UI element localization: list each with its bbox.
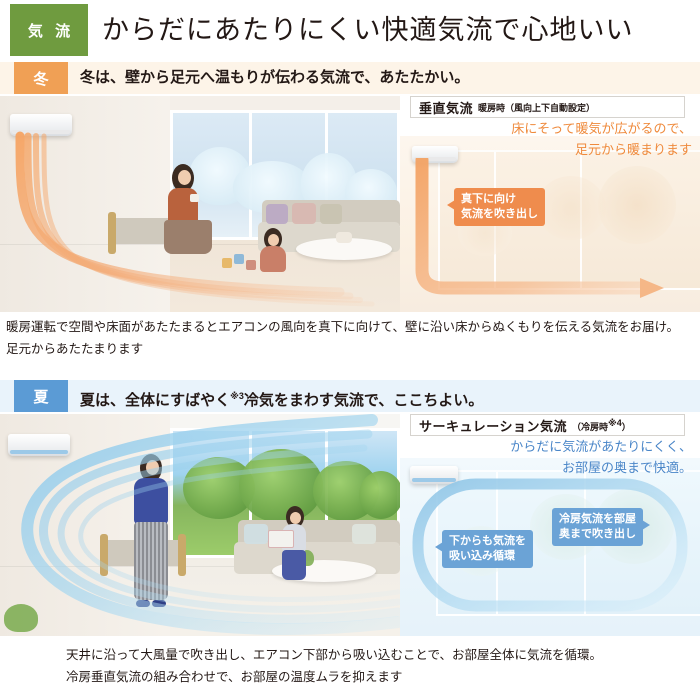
winter-caption: 暖房運転で空間や床面があたたまるとエアコンの風向を真下に向けて、壁に沿い床からぬ… [6,316,696,360]
callout-downward-airflow-line1: 真下に向け [461,192,538,207]
winter-ac-indoor-unit [10,114,72,136]
page-title: からだにあたりにくい快適気流で心地いい [102,6,633,54]
section-badge-airflow: 気 流 [10,4,88,56]
winter-diagram: 真下に向け 気流を吹き出し [400,136,700,312]
winter-diagram-panel: 垂直気流 暖房時（風向上下自動設定） 床にそって暖気が広がるので、 足元から暖ま… [400,96,700,312]
vertical-airflow-label: 垂直気流 暖房時（風向上下自動設定） [410,96,685,118]
summer-ac-indoor-unit [8,434,70,456]
winter-diagram-ac-unit [412,146,458,163]
summer-headline: 夏は、全体にすばやく※3冷気をまわす気流で、ここちよい。 [80,380,483,412]
circulation-airflow-label: サーキュレーション気流 （冷房時※4） [410,414,685,436]
callout-intake-from-below-line1: 下からも気流を [449,534,526,549]
summer-diagram: 下からも気流を 吸い込み循環 冷房気流を部屋 奥まで吹き出し [400,458,700,636]
summer-diagram-panel: サーキュレーション気流 （冷房時※4） からだに気流があたりにくく、 お部屋の奥… [400,414,700,636]
callout-intake-from-below: 下からも気流を 吸い込み循環 [442,530,533,568]
circulation-sub-open: （冷房時 [572,422,608,432]
airflow-feature-page: 気 流 からだにあたりにくい快適気流で心地いい 冬 冬は、壁から足元へ温もりが伝… [0,0,700,700]
winter-lead-line1: 床にそって暖気が広がるので、 [511,118,692,139]
circulation-airflow-label-sub: （冷房時※4） [572,418,631,433]
callout-downward-airflow: 真下に向け 気流を吹き出し [454,188,545,226]
winter-headline: 冬は、壁から足元へ温もりが伝わる気流で、あたたかい。 [80,62,469,94]
circulation-sub-close: ） [622,422,631,432]
vertical-airflow-label-sub: 暖房時（風向上下自動設定） [478,101,595,114]
summer-lead-text: からだに気流があたりにくく、 お部屋の奥まで快適。 [510,436,692,478]
summer-headline-bar: 夏 夏は、全体にすばやく※3冷気をまわす気流で、ここちよい。 [0,380,700,412]
summer-headline-part1: 夏は、全体にすばやく [80,392,230,409]
summer-scene: サーキュレーション気流 （冷房時※4） からだに気流があたりにくく、 お部屋の奥… [0,414,700,636]
callout-cool-air-to-far-side-line1: 冷房気流を部屋 [559,512,636,527]
summer-caption: 天井に沿って大風量で吹き出し、エアコン下部から吸い込むことで、お部屋全体に気流を… [66,644,696,688]
circulation-airflow-label-main: サーキュレーション気流 [419,416,567,435]
summer-diagram-ac-unit [410,466,458,484]
summer-caption-line2: 冷房垂直気流の組み合わせで、お部屋の温度ムラを抑えます [66,666,696,688]
callout-cool-air-to-far-side: 冷房気流を部屋 奥まで吹き出し [552,508,643,546]
winter-caption-line2: 足元からあたたまります [6,338,696,360]
circulation-sub-footnote: ※4 [608,418,622,428]
summer-lead-line2: お部屋の奥まで快適。 [510,457,692,478]
summer-headline-part2: 冷気をまわす気流で、ここちよい。 [244,392,483,409]
winter-headline-bar: 冬 冬は、壁から足元へ温もりが伝わる気流で、あたたかい。 [0,62,700,94]
winter-lead-text: 床にそって暖気が広がるので、 足元から暖まります [511,118,692,160]
page-header: 気 流 からだにあたりにくい快適気流で心地いい [0,0,700,56]
winter-scene: 垂直気流 暖房時（風向上下自動設定） 床にそって暖気が広がるので、 足元から暖ま… [0,96,700,312]
summer-headline-footnote: ※3 [230,391,244,401]
summer-caption-line1: 天井に沿って大風量で吹き出し、エアコン下部から吸い込むことで、お部屋全体に気流を… [66,644,696,666]
winter-room-photo [0,96,400,312]
callout-intake-from-below-line2: 吸い込み循環 [449,549,526,564]
vertical-airflow-label-main: 垂直気流 [419,98,473,117]
winter-caption-line1: 暖房運転で空間や床面があたたまるとエアコンの風向を真下に向けて、壁に沿い床からぬ… [6,316,696,338]
summer-badge: 夏 [14,380,68,412]
callout-downward-airflow-line2: 気流を吹き出し [461,207,538,222]
winter-lead-line2: 足元から暖まります [511,139,692,160]
callout-cool-air-to-far-side-line2: 奥まで吹き出し [559,527,636,542]
winter-badge: 冬 [14,62,68,94]
summer-room-photo [0,414,400,636]
summer-lead-line1: からだに気流があたりにくく、 [510,436,692,457]
